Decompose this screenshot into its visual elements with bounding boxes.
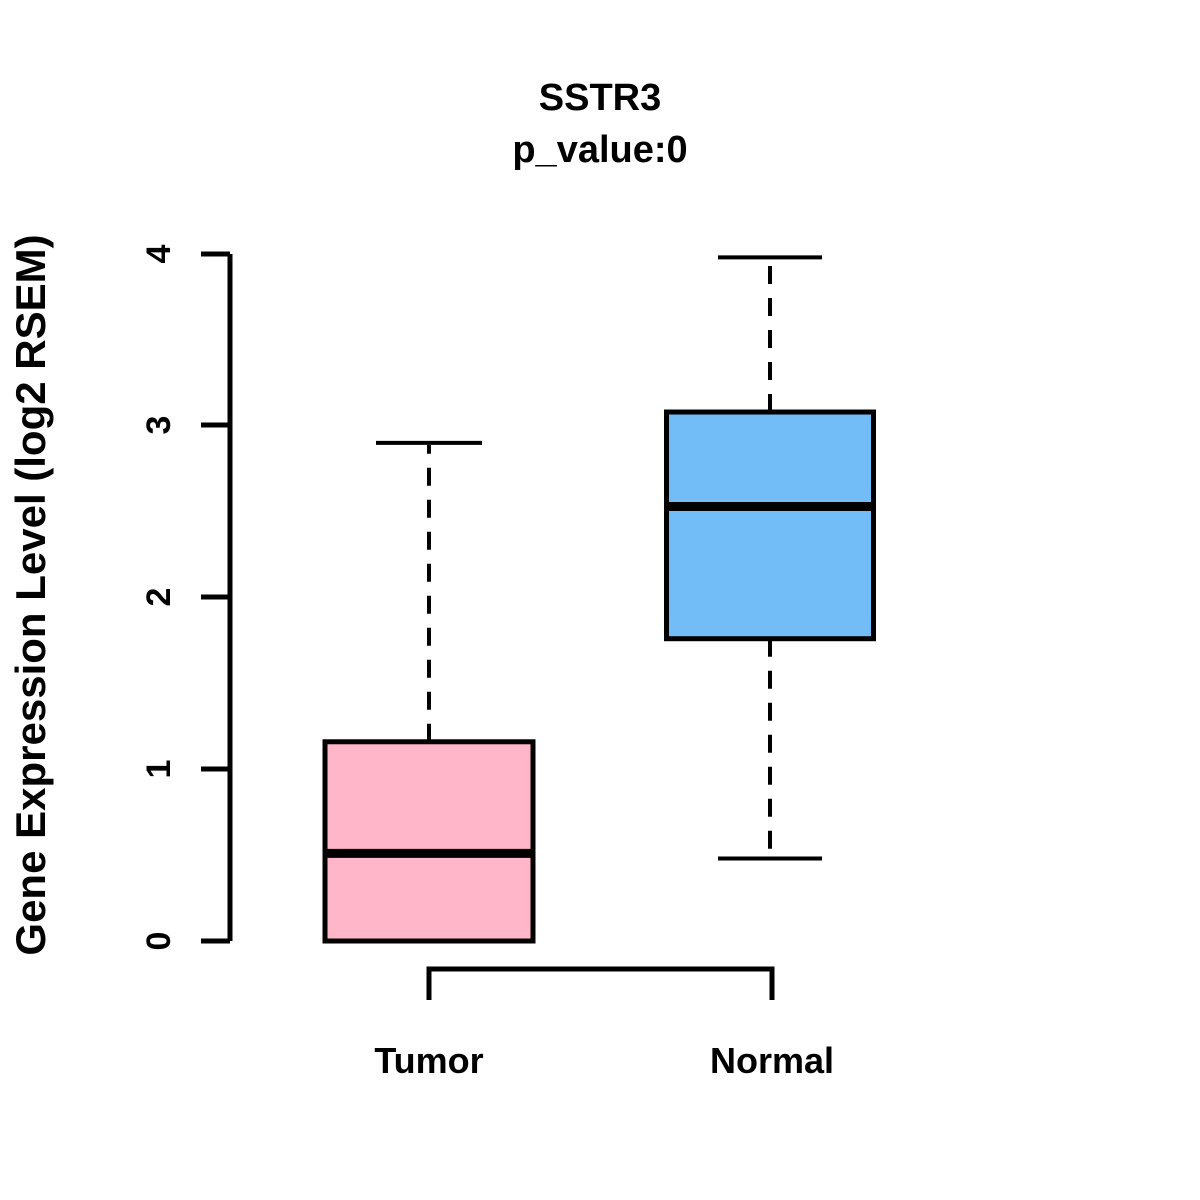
- y-tick-label-2: 2: [140, 588, 178, 607]
- y-tick-label-3: 3: [140, 416, 178, 435]
- y-axis-title: Gene Expression Level (log2 RSEM): [7, 234, 54, 955]
- tumor-box[interactable]: [325, 742, 533, 941]
- x-tick-label-tumor: Tumor: [374, 1040, 483, 1081]
- x-tick-label-normal: Normal: [710, 1040, 834, 1081]
- chart-title: SSTR3: [539, 77, 661, 119]
- plot-background: [0, 0, 1200, 1200]
- y-tick-label-4: 4: [140, 244, 178, 263]
- y-tick-label-1: 1: [140, 760, 178, 779]
- chart-subtitle: p_value:0: [512, 129, 687, 171]
- boxplot-canvas: SSTR3 p_value:0 Gene Expression Level (l…: [0, 0, 1200, 1200]
- normal-box[interactable]: [667, 412, 874, 639]
- boxplot-figure: SSTR3 p_value:0 Gene Expression Level (l…: [0, 0, 1200, 1200]
- y-tick-label-0: 0: [140, 932, 178, 951]
